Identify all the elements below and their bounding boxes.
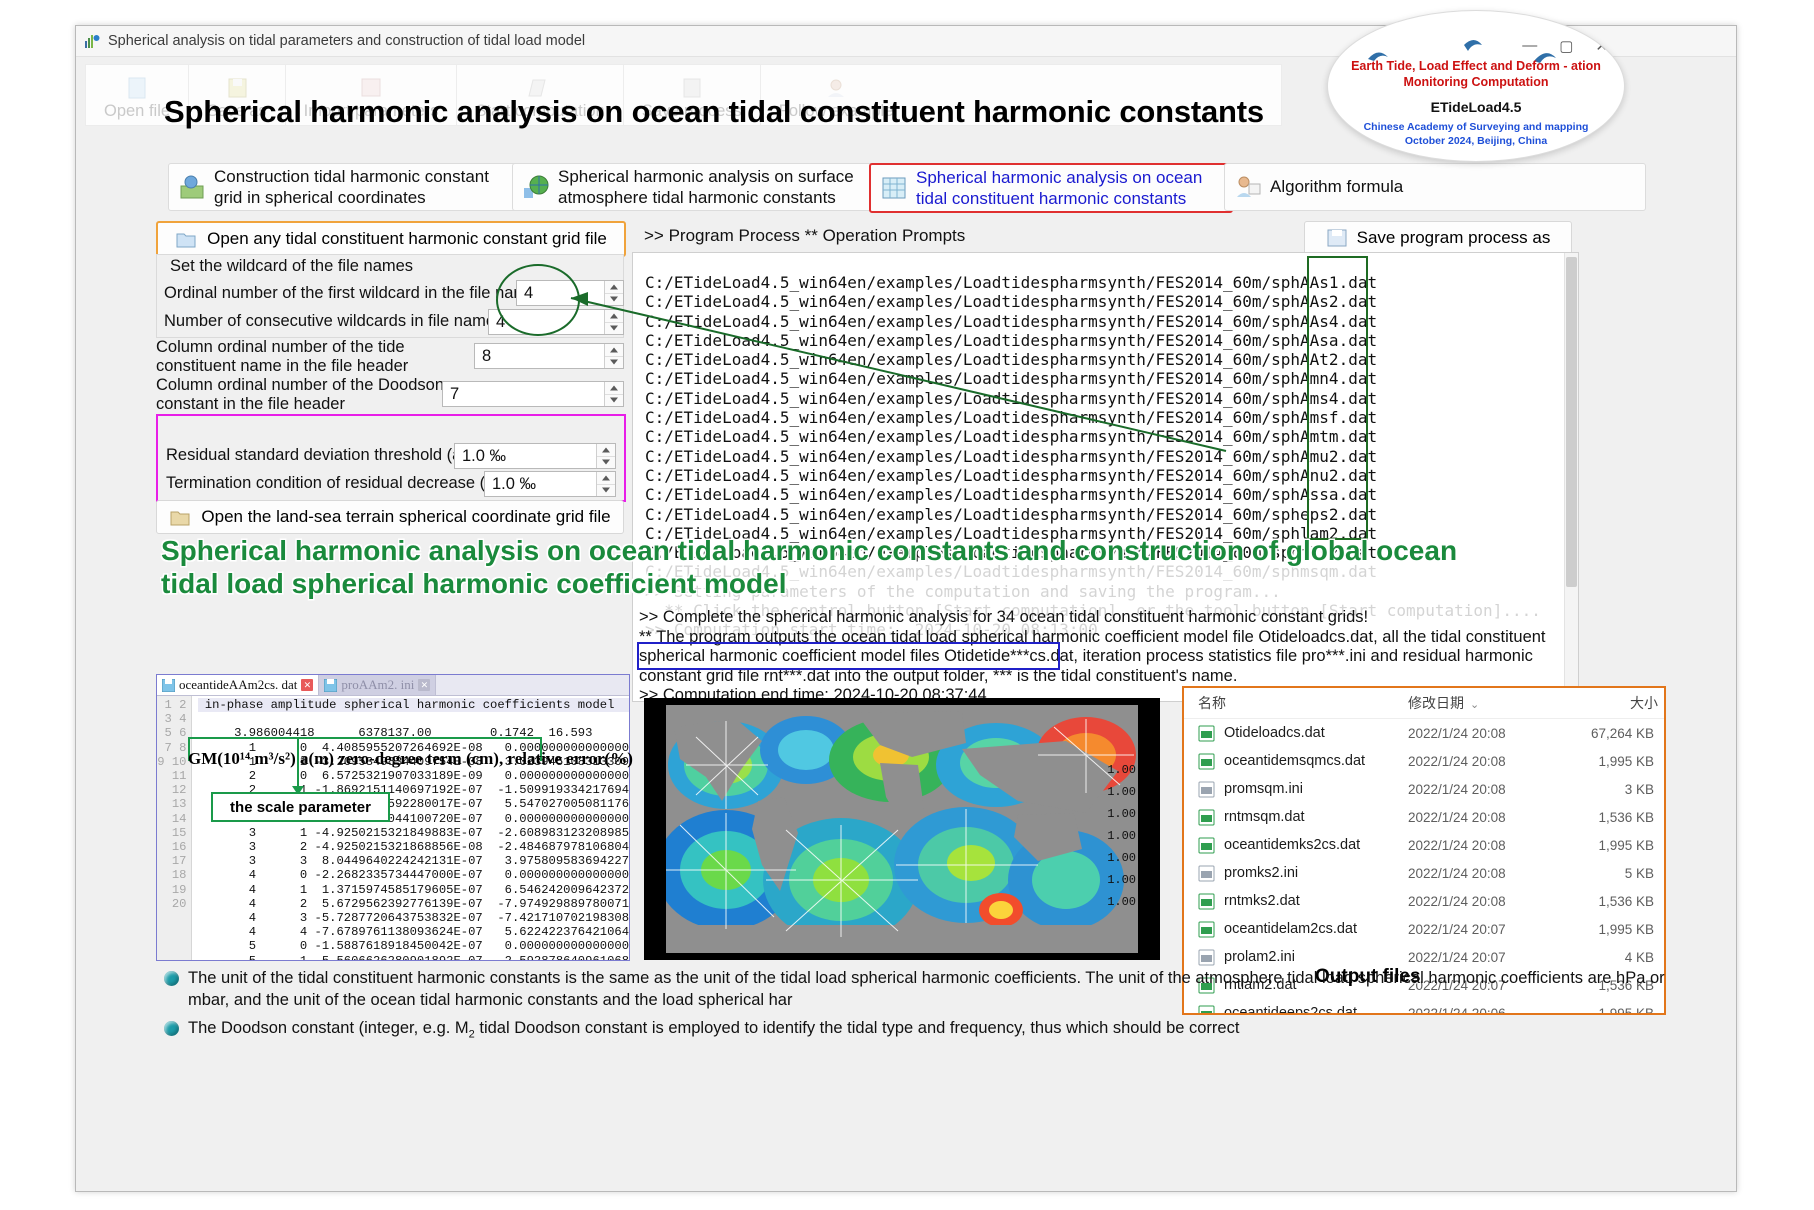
- save-program-process-label: Save program process as: [1357, 228, 1551, 248]
- spin-down-icon[interactable]: [605, 323, 623, 335]
- doodson-column-stepper[interactable]: 7: [442, 381, 624, 407]
- mode-button-ocean-analysis-label: Spherical harmonic analysis on ocean tid…: [916, 167, 1221, 210]
- dat-file-icon: [1198, 809, 1215, 826]
- open-land-sea-grid-button-label: Open the land-sea terrain spherical coor…: [201, 507, 610, 527]
- field-label-doodson-column: Column ordinal number of the Doodson con…: [156, 376, 446, 414]
- tide-constituent-column-value[interactable]: 8: [475, 347, 604, 366]
- process-result-line: ** The program outputs the ocean tidal l…: [639, 628, 1569, 648]
- explorer-file-date: 2022/1/24 20:08: [1408, 838, 1558, 853]
- process-result-line: >> Complete the spherical harmonic analy…: [639, 608, 1569, 628]
- dat-file-icon: [1198, 921, 1215, 938]
- explorer-file-row[interactable]: oceantidemsqmcs.dat2022/1/24 20:081,995 …: [1184, 747, 1664, 775]
- residual-decrease-spin-buttons[interactable]: [596, 472, 615, 496]
- dat-file-icon: [1198, 837, 1215, 854]
- explorer-file-name: Otideloadcs.dat: [1224, 725, 1325, 741]
- ocean-grid-icon: [881, 175, 907, 201]
- editor-tab-bar: oceantideAAm2cs. dat ✕ proAAm2. ini ✕: [157, 675, 629, 696]
- explorer-file-size: 67,264 KB: [1558, 726, 1654, 741]
- editor-tab-proaam2[interactable]: proAAm2. ini ✕: [319, 675, 436, 695]
- field-label-consecutive-wildcards: Number of consecutive wildcards in file …: [164, 312, 495, 331]
- gm-annotation-label: GM(10¹⁴ m³/s²) a(m) zero-degree term (cm…: [188, 749, 633, 769]
- spin-down-icon[interactable]: [605, 294, 623, 306]
- app-icon: [84, 33, 100, 49]
- spin-up-icon[interactable]: [597, 472, 615, 485]
- spin-up-icon[interactable]: [605, 281, 623, 294]
- spin-down-icon[interactable]: [605, 357, 623, 369]
- note-item: The unit of the tidal constituent harmon…: [164, 968, 1704, 1012]
- page-title: Spherical harmonic analysis on ocean tid…: [164, 94, 1264, 130]
- ini-file-icon: [1198, 865, 1215, 882]
- editor-code-text[interactable]: in-phase amplitude spherical harmonic co…: [192, 696, 630, 960]
- logo-app-name: ETideLoad4.5: [1328, 99, 1624, 115]
- editor-tab-oceantide[interactable]: oceantideAAm2cs. dat ✕: [157, 675, 319, 695]
- explorer-file-row[interactable]: oceantidemks2cs.dat2022/1/24 20:081,995 …: [1184, 831, 1664, 859]
- tide-constituent-column-stepper[interactable]: 8: [474, 343, 624, 369]
- explorer-file-date: 2022/1/24 20:08: [1408, 726, 1558, 741]
- explorer-column-size[interactable]: 大小: [1558, 693, 1658, 713]
- editor-body[interactable]: 1 2 3 4 5 6 7 8 9 10 11 12 13 14 15 16 1…: [157, 696, 629, 960]
- explorer-file-size: 4 KB: [1558, 950, 1654, 965]
- field-label-tide-constituent-column: Column ordinal number of the tide consti…: [156, 338, 476, 376]
- explorer-column-date[interactable]: 修改日期⌄: [1408, 693, 1558, 713]
- map-canvas: 1.00 1.00 1.00 1.00 1.00 1.00 1.00: [666, 705, 1138, 953]
- open-land-sea-grid-button[interactable]: Open the land-sea terrain spherical coor…: [156, 500, 624, 534]
- explorer-file-row[interactable]: Otideloadcs.dat2022/1/24 20:0867,264 KB: [1184, 719, 1664, 747]
- chevron-down-icon: ⌄: [1470, 699, 1479, 711]
- explorer-file-size: 1,536 KB: [1558, 894, 1654, 909]
- scale-annotation-box: the scale parameter: [211, 792, 390, 822]
- explorer-file-size: 3 KB: [1558, 782, 1654, 797]
- open-folder-icon: [169, 506, 191, 528]
- explorer-file-date: 2022/1/24 20:07: [1408, 950, 1558, 965]
- close-icon[interactable]: ✕: [1595, 37, 1608, 55]
- mode-button-algorithm-formula[interactable]: Algorithm formula: [1224, 163, 1646, 211]
- process-output-panel[interactable]: C:/ETideLoad4.5_win64en/examples/Loadtid…: [632, 252, 1579, 702]
- explorer-file-date: 2022/1/24 20:07: [1408, 922, 1558, 937]
- ini-file-icon: [1198, 949, 1215, 966]
- residual-decrease-stepper[interactable]: 1.0 ‰: [484, 471, 616, 497]
- toolbar-open-file-label: Open file: [104, 102, 170, 121]
- ocean-tide-map-figure: 1.00 1.00 1.00 1.00 1.00 1.00 1.00: [644, 698, 1160, 960]
- mode-button-ocean-analysis[interactable]: Spherical harmonic analysis on ocean tid…: [869, 163, 1233, 213]
- process-scrollbar[interactable]: [1564, 253, 1578, 701]
- algorithm-icon: [1235, 174, 1261, 200]
- explorer-file-name: oceantidemks2cs.dat: [1224, 837, 1360, 853]
- explorer-file-size: 1,536 KB: [1558, 810, 1654, 825]
- field-label-first-wildcard: Ordinal number of the first wildcard in …: [164, 284, 536, 303]
- mode-button-atmosphere-analysis-label: Spherical harmonic analysis on surface a…: [558, 166, 873, 209]
- save-program-process-button[interactable]: Save program process as: [1304, 221, 1572, 255]
- explorer-file-row[interactable]: rntmks2.dat2022/1/24 20:081,536 KB: [1184, 887, 1664, 915]
- explorer-column-name[interactable]: 名称: [1184, 693, 1408, 713]
- close-icon[interactable]: ✕: [418, 679, 430, 691]
- explorer-file-name: rntmsqm.dat: [1224, 809, 1305, 825]
- explorer-file-size: 1,995 KB: [1558, 754, 1654, 769]
- residual-threshold-stepper[interactable]: 1.0 ‰: [454, 443, 616, 469]
- ini-file-icon: [1198, 781, 1215, 798]
- mode-button-algorithm-formula-label: Algorithm formula: [1270, 176, 1635, 197]
- save-process-icon: [1326, 227, 1348, 249]
- editor-tab-proaam2-label: proAAm2. ini: [341, 677, 414, 693]
- wildcard-group-label: Set the wildcard of the file names: [170, 257, 413, 276]
- explorer-column-headers: 名称 修改日期⌄ 大小: [1184, 688, 1664, 719]
- close-icon[interactable]: ✕: [301, 679, 313, 691]
- green-overlay-heading: Spherical harmonic analysis on ocean tid…: [161, 534, 1461, 600]
- window-title: Spherical analysis on tidal parameters a…: [108, 33, 585, 49]
- output-files-explorer[interactable]: 名称 修改日期⌄ 大小 Otideloadcs.dat2022/1/24 20:…: [1182, 686, 1666, 1015]
- spin-down-icon[interactable]: [605, 395, 623, 407]
- logo-title: Earth Tide, Load Effect and Deform - ati…: [1328, 59, 1624, 90]
- process-result-line: spherical harmonic coefficient model fil…: [639, 647, 1569, 667]
- footer-notes: The unit of the tidal constituent harmon…: [164, 968, 1704, 1047]
- note-item: The Doodson constant (integer, e.g. M2 t…: [164, 1018, 1704, 1042]
- residual-threshold-value[interactable]: 1.0 ‰: [455, 447, 596, 466]
- grid-globe-icon: [179, 174, 205, 200]
- open-file-icon: [122, 76, 152, 100]
- explorer-file-size: 1,995 KB: [1558, 838, 1654, 853]
- dat-file-icon: [1198, 893, 1215, 910]
- spin-up-icon[interactable]: [605, 344, 623, 357]
- explorer-file-row[interactable]: oceantidelam2cs.dat2022/1/24 20:071,995 …: [1184, 915, 1664, 943]
- explorer-file-name: promsqm.ini: [1224, 781, 1303, 797]
- map-contour-plot: [666, 705, 1138, 953]
- editor-line-numbers: 1 2 3 4 5 6 7 8 9 10 11 12 13 14 15 16 1…: [157, 696, 192, 960]
- explorer-file-size: 1,995 KB: [1558, 922, 1654, 937]
- explorer-file-name: prolam2.ini: [1224, 949, 1295, 965]
- explorer-file-row[interactable]: promks2.ini2022/1/24 20:085 KB: [1184, 859, 1664, 887]
- spin-down-icon[interactable]: [597, 485, 615, 497]
- atmosphere-globe-icon: [523, 174, 549, 200]
- field-label-residual-decrease: Termination condition of residual decrea…: [166, 474, 500, 493]
- first-wildcard-spin-buttons[interactable]: [604, 281, 623, 305]
- mode-button-atmosphere-analysis[interactable]: Spherical harmonic analysis on surface a…: [512, 163, 884, 211]
- spin-down-icon[interactable]: [597, 457, 615, 469]
- doodson-column-value[interactable]: 7: [443, 385, 604, 404]
- open-grid-file-button[interactable]: Open any tidal constituent harmonic cons…: [156, 221, 626, 257]
- explorer-file-date: 2022/1/24 20:08: [1408, 894, 1558, 909]
- open-folder-icon: [175, 228, 197, 250]
- editor-tab-oceantide-label: oceantideAAm2cs. dat: [179, 677, 297, 693]
- bullet-icon: [164, 971, 179, 986]
- spin-up-icon[interactable]: [605, 382, 623, 395]
- explorer-file-date: 2022/1/24 20:08: [1408, 810, 1558, 825]
- scale-annotation-label: the scale parameter: [230, 799, 371, 816]
- open-grid-file-button-label: Open any tidal constituent harmonic cons…: [207, 229, 607, 249]
- process-scrollbar-thumb[interactable]: [1566, 257, 1577, 587]
- explorer-file-date: 2022/1/24 20:08: [1408, 866, 1558, 881]
- explorer-file-size: 5 KB: [1558, 866, 1654, 881]
- bullet-icon: [164, 1021, 179, 1036]
- save-disk-icon: [162, 679, 175, 692]
- spin-up-icon[interactable]: [605, 310, 623, 323]
- spin-up-icon[interactable]: [597, 444, 615, 457]
- explorer-file-row[interactable]: rntmsqm.dat2022/1/24 20:081,536 KB: [1184, 803, 1664, 831]
- consecutive-wildcards-spin-buttons[interactable]: [604, 310, 623, 334]
- mode-button-construction-grid[interactable]: Construction tidal harmonic constant gri…: [168, 163, 520, 211]
- doodson-column-spin-buttons[interactable]: [604, 382, 623, 406]
- explorer-file-date: 2022/1/24 20:08: [1408, 782, 1558, 797]
- note-text: The Doodson constant (integer, e.g. M2 t…: [188, 1018, 1704, 1042]
- process-result-line: constant grid file rnt***.dat into the o…: [639, 667, 1569, 687]
- explorer-file-row[interactable]: prolam2.ini2022/1/24 20:074 KB: [1184, 943, 1664, 971]
- app-window: Spherical analysis on tidal parameters a…: [75, 25, 1737, 1192]
- explorer-file-name: rntmks2.dat: [1224, 893, 1300, 909]
- explorer-file-name: oceantidemsqmcs.dat: [1224, 753, 1365, 769]
- logo-org: Chinese Academy of Surveying and mapping…: [1328, 121, 1624, 148]
- field-label-residual-threshold: Residual standard deviation threshold (a…: [166, 446, 467, 465]
- dat-file-icon: [1198, 753, 1215, 770]
- dat-file-icon: [1198, 725, 1215, 742]
- tide-constituent-column-spin-buttons[interactable]: [604, 344, 623, 368]
- explorer-file-name: oceantidelam2cs.dat: [1224, 921, 1357, 937]
- logo-bubble: — ▢ ✕ Earth Tide, Load Effect and Deform…: [1327, 10, 1625, 162]
- mode-button-construction-grid-label: Construction tidal harmonic constant gri…: [214, 166, 509, 209]
- save-disk-icon: [324, 679, 337, 692]
- note-text: The unit of the tidal constituent harmon…: [188, 968, 1704, 1012]
- explorer-file-row[interactable]: promsqm.ini2022/1/24 20:083 KB: [1184, 775, 1664, 803]
- residual-threshold-spin-buttons[interactable]: [596, 444, 615, 468]
- explorer-file-name: promks2.ini: [1224, 865, 1298, 881]
- residual-decrease-value[interactable]: 1.0 ‰: [485, 475, 596, 494]
- scale-annotation-arrow: [297, 737, 299, 793]
- wildcard-annotation-ellipse: [496, 264, 580, 336]
- explorer-file-date: 2022/1/24 20:08: [1408, 754, 1558, 769]
